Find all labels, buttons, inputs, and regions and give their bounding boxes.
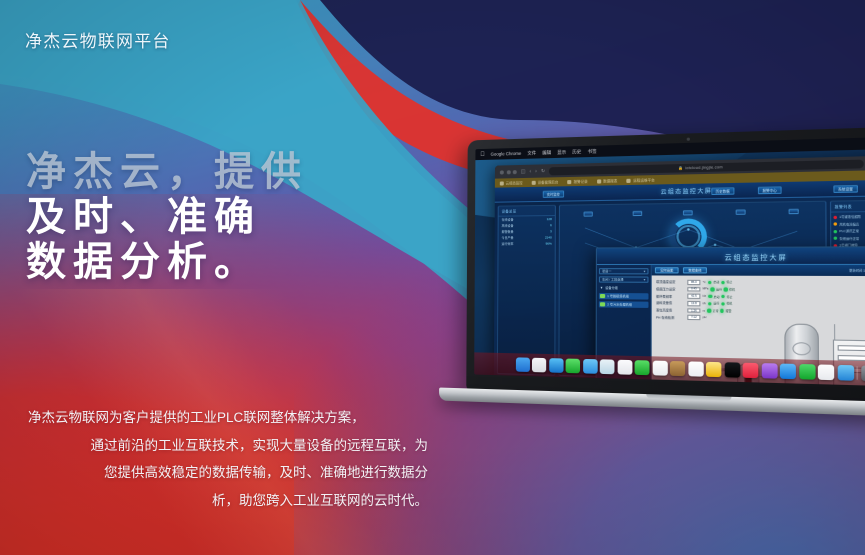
bookmark-label: 报警记录 [574, 179, 588, 184]
param-label: 塔底压力设定 [656, 287, 685, 291]
stat-label: 运行效率 [501, 242, 513, 246]
reload-icon[interactable]: ↻ [541, 168, 545, 174]
keynote-icon[interactable] [837, 365, 854, 381]
param-status: 正常 报警 [707, 309, 731, 314]
lock-icon: 🔒 [678, 166, 683, 170]
led-green-icon [708, 295, 712, 299]
device-icon [600, 294, 605, 298]
param-label: 液位高度值 [656, 308, 685, 313]
paragraph-line-4: 析，助您跨入工业互联网的云时代。 [28, 487, 428, 515]
url-text: iotcloud.jingjie.com [685, 165, 723, 170]
param-input[interactable]: 85.0 [687, 280, 700, 285]
bookmark-label: 远程运维平台 [633, 177, 655, 183]
apple-icon[interactable]:  [480, 151, 484, 157]
led-green-icon [721, 295, 725, 299]
dashboard-front-title: 云组态监控大屏 [725, 251, 788, 261]
param-unit: t/h [703, 302, 706, 305]
selector-label: 项目一 [602, 269, 611, 273]
maximize-icon[interactable] [513, 170, 517, 174]
param-status: 启动 停止 [708, 280, 732, 284]
param-status-2: 停止 [726, 280, 732, 284]
photos-icon[interactable] [617, 360, 632, 375]
minimize-icon[interactable] [506, 170, 510, 174]
led-green-icon [707, 309, 711, 313]
alarm-text: 1号罐液位超限 [839, 214, 861, 219]
led-green-icon [708, 280, 712, 284]
param-unit: MPa [703, 288, 709, 291]
browser-nav: ◫ ‹ › ↻ [521, 168, 545, 175]
selector-label: 车间 / 工段选择 [602, 277, 624, 281]
tree-group-label[interactable]: ▼ 设备分组 [599, 285, 649, 292]
param-row: 循环泵频率 42.5 Hz 启动 停止 [656, 294, 735, 299]
settings-icon[interactable] [861, 365, 865, 381]
dashboard-tab-alarm[interactable]: 报警中心 [758, 186, 781, 194]
param-input[interactable]: 7.12 [687, 315, 700, 320]
stat-label: 今日产量 [502, 236, 514, 240]
tree-group-text: 设备分组 [605, 286, 618, 290]
panel-title: 设备总览 [499, 206, 555, 217]
webcam-icon [687, 138, 690, 141]
param-status: 运行 停机 [708, 301, 732, 305]
param-status-2: 报警 [726, 309, 732, 313]
dashboard-tab-realtime[interactable]: 实时监控 [543, 190, 564, 197]
hero-headline: 净杰云，提供 及时、准确 数据分析。 [26, 150, 308, 286]
param-status-1: 启动 [713, 280, 719, 284]
menubar-item-file[interactable]: 文件 [527, 150, 536, 156]
param-status-2: 停止 [727, 294, 733, 298]
param-row: 塔底压力设定 0.45 MPa 运行 停机 [656, 287, 735, 292]
param-input[interactable]: 13.8 [687, 301, 700, 306]
stat-value: 6 [550, 223, 552, 227]
led-green-icon [720, 309, 724, 313]
status-dot-icon [834, 237, 838, 240]
stat-row: 运行效率 96% [499, 240, 555, 246]
status-dot-icon [834, 229, 838, 232]
tree-item-label: 2 号污水处理机组 [607, 302, 632, 306]
tree-item-label: 1 号脱硫塔机组 [607, 294, 629, 298]
panel-title: 报警列表 [831, 201, 865, 213]
menubar-item-history[interactable]: 历史 [572, 149, 581, 155]
brand-logo: 净杰云物联网平台 [25, 27, 171, 52]
chevron-down-icon: ▾ [644, 278, 646, 282]
reminders-icon[interactable] [688, 361, 703, 376]
led-green-icon [724, 288, 728, 292]
hmi-tab-curve[interactable]: 数据曲线 [683, 267, 707, 273]
launchpad-icon[interactable] [532, 358, 546, 373]
numbers-icon[interactable] [799, 364, 815, 380]
bookmark-icon [500, 181, 504, 185]
param-status-2: 停机 [729, 287, 735, 291]
param-unit: pH [703, 316, 707, 319]
podcasts-icon[interactable] [761, 363, 777, 379]
led-green-icon [708, 302, 712, 306]
close-icon[interactable] [500, 170, 504, 174]
notes-icon[interactable] [706, 362, 721, 377]
param-row: 塔顶温度设定 85.0 ℃ 启动 停止 [656, 280, 735, 285]
headline-line-3: 数据分析。 [26, 240, 308, 285]
bookmark-icon [567, 180, 571, 184]
stat-value: 2140 [545, 235, 552, 239]
param-label: PH 在线检测 [656, 315, 685, 320]
calendar-icon[interactable] [652, 361, 667, 376]
param-unit: Hz [703, 295, 706, 298]
appletv-icon[interactable] [724, 362, 740, 377]
project-selector[interactable]: 项目一 ▾ [599, 268, 649, 274]
param-row: PH 在线检测 7.12 pH [656, 315, 735, 321]
headline-line-2: 及时、准确 [26, 195, 308, 240]
alarm-text: PLC通讯正常 [839, 229, 859, 234]
alarm-row[interactable]: 风机电流偏高 [834, 221, 865, 226]
param-status-1: 运行 [716, 287, 722, 291]
menubar-item-bookmarks[interactable]: 书签 [587, 148, 596, 154]
stat-value: 128 [547, 217, 552, 221]
bookmark-label: 数据报表 [603, 178, 617, 183]
param-row: 进料流量值 13.8 t/h 运行 停机 [656, 301, 735, 307]
bookmark-item[interactable]: 远程运维平台 [627, 177, 655, 183]
finder-icon[interactable] [515, 357, 529, 372]
paragraph-line-3: 您提供高效稳定的数据传输，及时、准确地进行数据分 [28, 459, 428, 487]
menubar-app-name[interactable]: Google Chrome [491, 151, 522, 157]
stat-value: 3 [550, 229, 552, 233]
param-status: 启动 停止 [708, 294, 732, 298]
paragraph-line-2: 通过前沿的工业互联技术，实现大量设备的远程互联，为 [28, 432, 428, 460]
messages-icon[interactable] [566, 359, 580, 374]
alarm-text: 风机电流偏高 [839, 222, 859, 227]
alarm-row[interactable]: 1号罐液位超限 [833, 214, 865, 219]
stat-value: 96% [546, 242, 552, 246]
contacts-icon[interactable] [670, 361, 685, 376]
tower-indicator [795, 385, 809, 388]
bookmark-item[interactable]: 设备管理后台 [532, 179, 559, 185]
param-status-1: 正常 [713, 309, 719, 313]
facetime-icon[interactable] [635, 360, 650, 375]
alarm-row[interactable]: PLC通讯正常 [834, 228, 865, 233]
headline-line-1: 净杰云，提供 [26, 150, 308, 195]
music-icon[interactable] [743, 363, 759, 378]
param-input[interactable]: 1.26 [687, 308, 700, 313]
alarm-text: 泵组运行正常 [839, 236, 859, 241]
param-status-1: 运行 [713, 302, 719, 306]
pump-caption: 加压泵 [766, 384, 775, 387]
param-unit: m [703, 309, 705, 312]
dashboard-tab-settings[interactable]: 系统设置 [833, 185, 857, 193]
param-status-2: 停机 [726, 302, 732, 306]
mac-desktop: ◫ ‹ › ↻ 🔒 iotcloud.jingjie.com ↥ [474, 148, 865, 387]
param-label: 塔顶温度设定 [656, 280, 685, 284]
bookmark-item[interactable]: 数据报表 [597, 178, 617, 184]
laptop-lid:  Google Chrome 文件 编辑 显示 历史 书签 [466, 126, 865, 406]
tree-item-device-1[interactable]: 1 号脱硫塔机组 [599, 293, 649, 300]
dashboard-tab-history[interactable]: 历史数据 [711, 187, 734, 195]
param-label: 进料流量值 [656, 301, 685, 305]
alarm-row[interactable]: 泵组运行正常 [834, 236, 865, 241]
bookmark-item[interactable]: 报警记录 [567, 179, 587, 185]
mail-icon[interactable] [583, 359, 598, 374]
dashboard-left-column: 设备总览 在线设备 128 离线设备 6 [497, 205, 556, 376]
bookmark-icon [532, 180, 536, 184]
dashboard-front-header: 云组态监控大屏 [597, 247, 865, 265]
hmi-toolbar: 实时画面 数据曲线 更新时间 10:24:16 [652, 265, 865, 276]
stat-label: 在线设备 [502, 218, 514, 222]
param-input[interactable]: 42.5 [687, 294, 700, 299]
hero-banner: 净杰云物联网平台 净杰云，提供 及时、准确 数据分析。 净杰云物联网为客户提供的… [0, 0, 865, 555]
param-status-1: 启动 [714, 294, 720, 298]
laptop-screen:  Google Chrome 文件 编辑 显示 历史 书签 [474, 136, 865, 387]
folder-icon: ▼ [600, 286, 603, 290]
bookmark-label: 设备管理后台 [538, 179, 559, 185]
maps-icon[interactable] [600, 359, 615, 374]
back-icon[interactable]: ‹ [529, 168, 531, 174]
workshop-selector[interactable]: 车间 / 工段选择 ▾ [599, 276, 649, 282]
hmi-tab-realtime[interactable]: 实时画面 [655, 267, 679, 273]
hmi-update-time: 更新时间 10:24:16 [849, 268, 865, 272]
dock-separator [857, 366, 858, 379]
led-green-icon [711, 288, 715, 292]
led-green-icon [721, 280, 725, 284]
menubar-item-edit[interactable]: 编辑 [542, 149, 551, 155]
param-label: 循环泵频率 [656, 294, 685, 298]
bookmark-icon [597, 179, 601, 183]
appstore-icon[interactable] [780, 364, 796, 380]
tree-item-device-2[interactable]: 2 号污水处理机组 [599, 301, 649, 308]
param-input[interactable]: 0.45 [687, 287, 700, 292]
status-dot-icon [833, 215, 837, 218]
param-status: 运行 停机 [711, 287, 735, 291]
alarm-rows: 1号罐液位超限 风机电流偏高 PLC通讯正常 [831, 212, 865, 250]
chevron-down-icon: ▾ [644, 269, 646, 273]
cabinet-display [838, 345, 865, 351]
stat-label: 离线设备 [502, 224, 514, 228]
param-unit: ℃ [703, 281, 706, 284]
bookmark-label: 云组态监控 [506, 180, 523, 185]
status-dot-icon [834, 222, 838, 225]
led-green-icon [721, 302, 725, 306]
param-row: 液位高度值 1.26 m 正常 报警 [656, 308, 735, 314]
dashboard-title: 云组态监控大屏 [661, 187, 713, 196]
paragraph-line-1: 净杰云物联网为客户提供的工业PLC联网整体解决方案， [28, 404, 428, 432]
safari-icon[interactable] [549, 358, 563, 373]
forward-icon[interactable]: › [535, 168, 537, 174]
device-icon [600, 302, 605, 306]
device-overview-panel: 设备总览 在线设备 128 离线设备 6 [497, 205, 556, 376]
bookmark-item[interactable]: 云组态监控 [500, 180, 523, 186]
laptop-mockup:  Google Chrome 文件 编辑 显示 历史 书签 [466, 126, 865, 406]
pages-icon[interactable] [818, 364, 834, 380]
hmi-parameter-table: 塔顶温度设定 85.0 ℃ 启动 停止 [656, 280, 735, 321]
sidebar-icon[interactable]: ◫ [521, 168, 526, 174]
window-controls[interactable] [500, 170, 517, 174]
stat-label: 报警数量 [502, 230, 514, 234]
hero-paragraph: 净杰云物联网为客户提供的工业PLC联网整体解决方案， 通过前沿的工业互联技术，实… [28, 404, 428, 515]
bookmark-icon [627, 178, 631, 182]
menubar-item-view[interactable]: 显示 [557, 149, 566, 155]
